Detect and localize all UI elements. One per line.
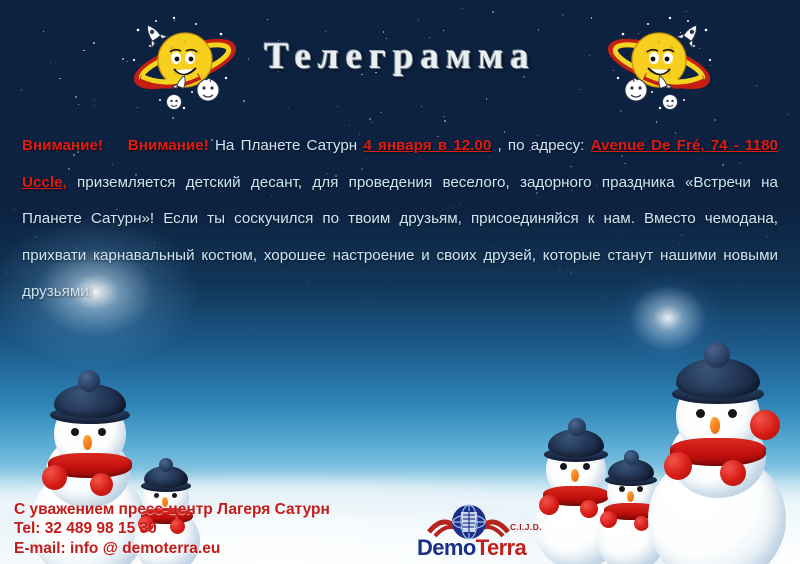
logo-wordmark: DemoTerra — [417, 535, 526, 561]
logo-word-terra: Terra — [476, 535, 526, 560]
page-title: Телеграмма — [0, 35, 800, 78]
message-rest-text: приземляется детский десант, для проведе… — [22, 174, 778, 301]
poster-header: Телеграмма — [0, 0, 800, 122]
datetime-highlight: 4 января в 12.00 — [363, 137, 491, 154]
logo-word-demo: Demo — [417, 535, 476, 560]
after-datetime-text: , по адресу: — [498, 137, 591, 154]
lead-in-text: На Планете Сатурн — [215, 137, 363, 154]
footer-contact: С уважением пресс-центр Лагеря Сатурн Te… — [14, 500, 330, 559]
logo-tagline: C.I.J.D. — [510, 522, 542, 532]
footer-email: E-mail: info @ demoterra.eu — [14, 539, 330, 559]
snowman-right-large — [646, 356, 788, 564]
attention-label-2: Внимание! — [128, 137, 209, 154]
footer-signature: С уважением пресс-центр Лагеря Сатурн — [14, 500, 330, 520]
telegram-poster: Телеграмма Внимание! Внимание! На Планет… — [0, 0, 800, 564]
demoterra-logo[interactable]: C.I.J.D. DemoTerra — [425, 502, 543, 560]
footer-phone: Tel: 32 489 98 15 30 — [14, 519, 330, 539]
attention-label-1: Внимание! — [22, 137, 103, 154]
telegram-body: Внимание! Внимание! На Планете Сатурн 4 … — [22, 128, 778, 311]
